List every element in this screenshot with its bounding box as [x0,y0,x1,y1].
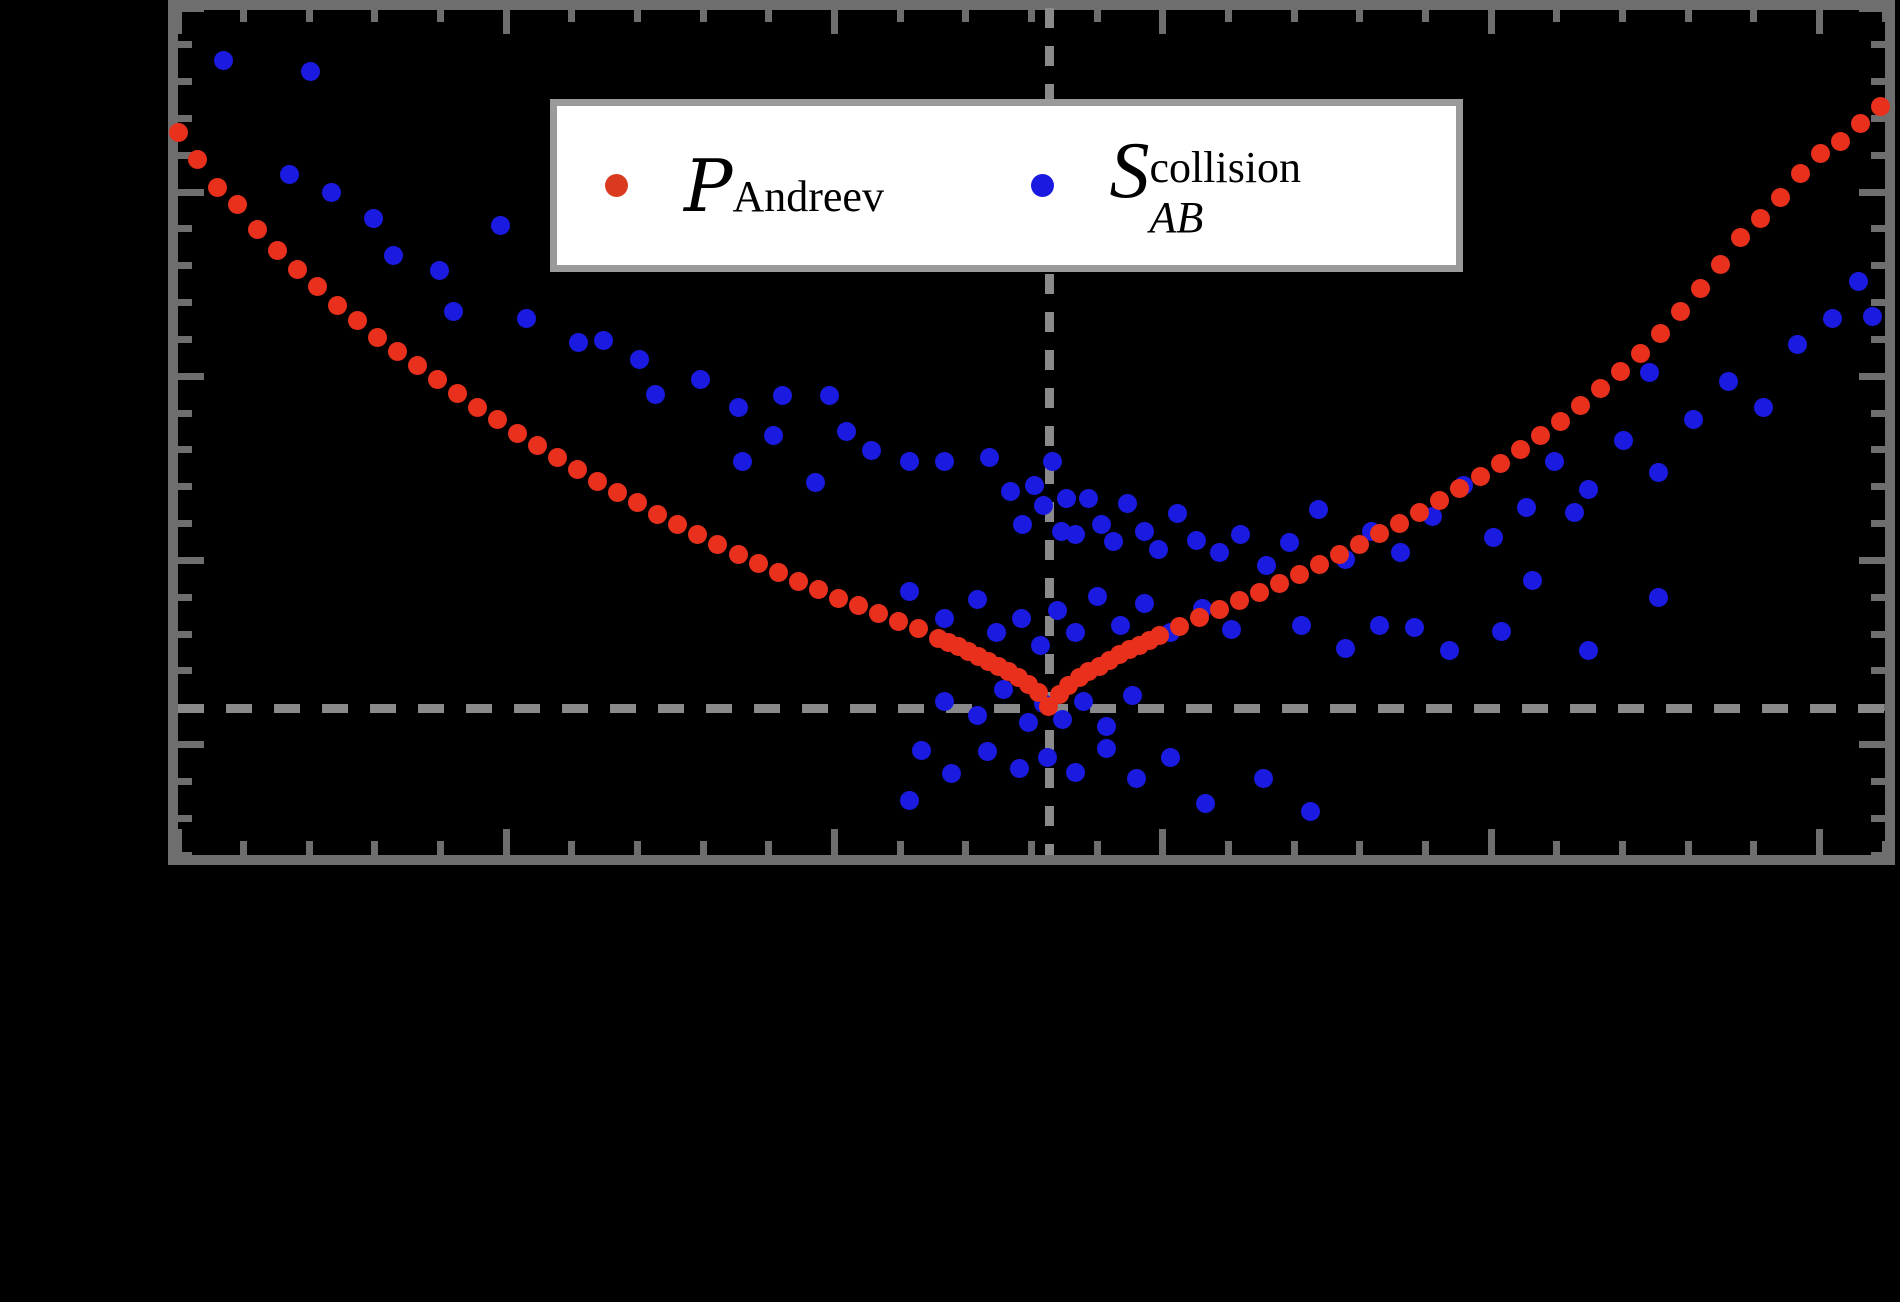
legend-sub-ab: AB [1150,196,1204,240]
data-point [491,216,510,235]
data-point [978,742,997,761]
x-tick-bottom-minor [1750,841,1757,855]
x-tick-bottom-minor [1356,841,1363,855]
x-tick-bottom-major [1159,829,1166,855]
data-point [1301,802,1320,821]
data-point [608,483,627,502]
data-point [1370,616,1389,635]
x-tick-bottom-minor [437,841,444,855]
data-point [1010,759,1029,778]
data-point [1012,609,1031,628]
y-tick-right-minor [1871,152,1885,159]
data-point [1571,396,1590,415]
data-point [1088,587,1107,606]
x-tick-bottom-minor [1291,841,1298,855]
y-tick-right-major [1859,189,1885,196]
data-point [408,356,427,375]
y-tick-right-minor [1871,115,1885,122]
x-tick-top-minor [437,8,444,22]
x-tick-top-minor [1619,8,1626,22]
data-point [1104,532,1123,551]
y-tick-right-minor [1871,483,1885,490]
data-point [568,460,587,479]
y-tick-right-minor [1871,667,1885,674]
data-point [1257,556,1276,575]
data-point [430,261,449,280]
data-point [368,328,387,347]
data-point [1013,515,1032,534]
y-tick-left-major [178,557,204,564]
data-point [1491,454,1510,473]
data-point [1651,324,1670,343]
y-tick-right-major [1859,373,1885,380]
x-tick-top-major [1159,8,1166,34]
data-point [444,302,463,321]
x-tick-top-minor [1291,8,1298,22]
data-point [1391,543,1410,562]
data-point [1170,617,1189,636]
x-tick-top-minor [1685,8,1692,22]
data-point [1791,164,1810,183]
data-point [1440,641,1459,660]
x-tick-bottom-minor [306,841,313,855]
y-tick-right-minor [1871,778,1885,785]
data-point [1640,363,1659,382]
data-point [1231,525,1250,544]
data-point [448,384,467,403]
x-tick-top-minor [962,8,969,22]
data-point [1161,748,1180,767]
data-point [1123,686,1142,705]
x-tick-top-minor [765,8,772,22]
x-tick-bottom-minor [1619,841,1626,855]
legend-sup-collision: collision [1150,146,1302,190]
data-point [1719,372,1738,391]
data-point [214,51,233,70]
x-tick-top-major [831,8,838,34]
data-point [837,422,856,441]
y-tick-right-minor [1871,815,1885,822]
data-point [1551,412,1570,431]
legend-label-p-andreev: PAndreev [684,150,884,222]
data-point [188,150,207,169]
y-tick-left-minor [178,78,192,85]
data-point [1649,588,1668,607]
data-point [1711,255,1730,274]
data-point [1066,623,1085,642]
y-tick-right-minor [1871,520,1885,527]
data-point [806,473,825,492]
data-point [900,791,919,810]
data-point [268,241,287,260]
x-tick-top-minor [1094,8,1101,22]
data-point [1871,97,1890,116]
y-tick-left-major [178,5,204,12]
data-point [1511,440,1530,459]
data-point [1863,307,1882,326]
data-point [729,398,748,417]
data-point [987,623,1006,642]
data-point [1591,379,1610,398]
data-point [630,350,649,369]
data-point [769,563,788,582]
x-tick-top-major [1488,8,1495,34]
data-point [1150,626,1169,645]
data-point [1038,748,1057,767]
x-tick-bottom-minor [700,841,707,855]
y-tick-right-minor [1871,299,1885,306]
data-point [388,342,407,361]
data-point [1517,498,1536,517]
data-point [1579,641,1598,660]
data-point [900,582,919,601]
data-point [1292,616,1311,635]
y-tick-right-minor [1871,594,1885,601]
x-tick-top-minor [371,8,378,22]
data-point [1230,591,1249,610]
data-point [1471,467,1490,486]
x-tick-bottom-minor [371,841,378,855]
data-point [628,493,647,512]
x-tick-bottom-minor [1685,841,1692,855]
data-point [588,472,607,491]
y-tick-left-minor [178,594,192,601]
y-tick-right-minor [1871,410,1885,417]
y-tick-right-minor [1871,262,1885,269]
legend-entry-s-ab-collision: ScollisionAB [1031,131,1457,239]
data-point [1097,717,1116,736]
legend-entry-p-andreev: PAndreev [557,150,1031,222]
data-point [1270,574,1289,593]
data-point [749,554,768,573]
y-tick-left-minor [178,667,192,674]
data-point [900,452,919,471]
y-tick-left-minor [178,336,192,343]
x-tick-top-major [175,8,182,34]
data-point [980,448,999,467]
x-tick-top-minor [240,8,247,22]
data-point [1614,431,1633,450]
y-tick-left-minor [178,115,192,122]
data-point [1430,491,1449,510]
x-tick-top-minor [1356,8,1363,22]
data-point [691,370,710,389]
y-tick-left-minor [178,631,192,638]
data-point [280,165,299,184]
y-tick-right-major [1859,741,1885,748]
horizontal-reference-line [178,704,1885,713]
x-tick-bottom-minor [568,841,575,855]
data-point [1390,514,1409,533]
y-tick-left-minor [178,778,192,785]
data-point [1025,476,1044,495]
x-tick-top-minor [1422,8,1429,22]
data-point [1450,479,1469,498]
data-point [1649,463,1668,482]
x-tick-bottom-minor [1225,841,1232,855]
data-point [1280,533,1299,552]
data-point [288,260,307,279]
axis-spine-bottom [168,855,1895,865]
data-point [1168,504,1187,523]
y-tick-left-minor [178,815,192,822]
data-point [912,741,931,760]
data-point [1079,489,1098,508]
data-point [1190,608,1209,627]
data-point [517,309,536,328]
data-point [646,385,665,404]
data-point [1788,335,1807,354]
y-tick-right-minor [1871,78,1885,85]
data-point [1210,543,1229,562]
data-point [708,535,727,554]
data-point [729,545,748,564]
data-point [548,448,567,467]
data-point [1370,524,1389,543]
data-point [942,764,961,783]
y-tick-left-minor [178,225,192,232]
data-point [384,246,403,265]
y-tick-left-minor [178,520,192,527]
data-point [1731,228,1750,247]
data-point [688,525,707,544]
y-tick-left-minor [178,446,192,453]
data-point [1001,482,1020,501]
x-tick-bottom-minor [1553,841,1560,855]
data-point [1523,571,1542,590]
x-tick-bottom-minor [1094,841,1101,855]
data-point [468,398,487,417]
data-point [968,706,987,725]
x-tick-bottom-major [1816,829,1823,855]
y-tick-left-minor [178,299,192,306]
axis-spine-right [1885,0,1895,863]
data-point [1118,494,1137,513]
x-tick-bottom-minor [1422,841,1429,855]
data-point [1831,132,1850,151]
legend-marker-blue-dot [1031,174,1054,197]
x-tick-top-minor [700,8,707,22]
y-tick-right-minor [1871,41,1885,48]
data-point [1187,531,1206,550]
y-tick-right-minor [1871,631,1885,638]
data-point [1092,515,1111,534]
y-tick-right-major [1859,5,1885,12]
legend-base-s: S [1110,127,1150,215]
data-point [1048,601,1067,620]
data-point [935,452,954,471]
data-point [862,441,881,460]
data-point [1751,209,1770,228]
y-tick-right-minor [1871,225,1885,232]
y-tick-left-major [178,189,204,196]
data-point [364,209,383,228]
x-tick-bottom-minor [765,841,772,855]
x-tick-top-minor [1553,8,1560,22]
x-tick-top-minor [568,8,575,22]
data-point [1066,525,1085,544]
data-point [1405,618,1424,637]
data-point [1135,522,1154,541]
data-point [301,62,320,81]
data-point [1565,503,1584,522]
x-tick-top-minor [1750,8,1757,22]
data-point [1034,496,1053,515]
data-point [1611,362,1630,381]
data-point [1222,620,1241,639]
data-point [773,386,792,405]
data-point [488,410,507,429]
x-tick-top-minor [1225,8,1232,22]
data-point [1250,583,1269,602]
data-point [1310,555,1329,574]
data-point [968,590,987,609]
data-point [208,178,227,197]
data-point [820,386,839,405]
x-tick-top-major [1816,8,1823,34]
data-point [849,596,868,615]
x-tick-top-minor [897,8,904,22]
data-point [733,452,752,471]
x-tick-top-minor [634,8,641,22]
data-point [1149,540,1168,559]
y-tick-right-minor [1871,446,1885,453]
data-point [1053,710,1072,729]
data-point [1410,503,1429,522]
data-point [228,195,247,214]
x-tick-bottom-minor [962,841,969,855]
data-point [809,580,828,599]
data-point [1043,452,1062,471]
data-point [1290,565,1309,584]
x-tick-bottom-minor [897,841,904,855]
data-point [1019,713,1038,732]
data-point [1691,279,1710,298]
data-point [1127,769,1146,788]
legend-sub-andreev: Andreev [732,172,884,221]
figure-root: PAndreev ScollisionAB [0,0,1900,1302]
data-point [594,331,613,350]
y-tick-left-major [178,373,204,380]
x-tick-bottom-major [503,829,510,855]
data-point [428,370,447,389]
data-point [869,604,888,623]
data-point [1097,739,1116,758]
data-point [1631,344,1650,363]
x-tick-bottom-minor [1028,841,1035,855]
data-point [909,619,928,638]
data-point [829,589,848,608]
data-point [308,277,327,296]
data-point [1254,769,1273,788]
data-point [1031,636,1050,655]
data-point [1350,535,1369,554]
data-point [328,296,347,315]
data-point [1754,398,1773,417]
x-tick-bottom-major [1488,829,1495,855]
x-tick-bottom-major [831,829,838,855]
y-tick-left-minor [178,41,192,48]
y-tick-left-minor [178,262,192,269]
y-tick-left-minor [178,852,192,859]
data-point [1671,302,1690,321]
y-tick-right-minor [1871,336,1885,343]
plot-area: PAndreev ScollisionAB [178,8,1885,855]
data-point [1531,426,1550,445]
data-point [1811,144,1830,163]
legend-label-s-ab-collision: ScollisionAB [1110,131,1350,239]
data-point [1492,622,1511,641]
data-point [1309,500,1328,519]
data-point [528,436,547,455]
x-tick-bottom-minor [634,841,641,855]
y-tick-right-minor [1871,852,1885,859]
y-tick-right-major [1859,557,1885,564]
data-point [348,311,367,330]
data-point [508,424,527,443]
data-point [1111,616,1130,635]
x-tick-top-minor [306,8,313,22]
data-point [789,572,808,591]
data-point [668,515,687,534]
y-tick-left-minor [178,410,192,417]
data-point [1066,763,1085,782]
data-point [1057,489,1076,508]
data-point [1579,480,1598,499]
y-tick-left-minor [178,483,192,490]
data-point [322,183,341,202]
legend-box: PAndreev ScollisionAB [550,99,1463,272]
data-point [1849,272,1868,291]
data-point [1684,410,1703,429]
legend-marker-red-dot [605,174,628,197]
data-point [248,220,267,239]
x-tick-top-minor [1028,8,1035,22]
y-tick-left-major [178,741,204,748]
data-point [1823,309,1842,328]
data-point [1336,639,1355,658]
data-point [764,426,783,445]
data-point [1851,114,1870,133]
x-tick-bottom-minor [240,841,247,855]
data-point [648,505,667,524]
data-point [1196,794,1215,813]
x-tick-top-major [503,8,510,34]
data-point [1074,692,1093,711]
data-point [935,692,954,711]
data-point [1135,594,1154,613]
data-point [1484,528,1503,547]
data-point [1545,452,1564,471]
data-point [935,609,954,628]
data-point [1771,188,1790,207]
data-point [169,123,188,142]
data-point [1210,600,1229,619]
data-point [889,612,908,631]
data-point [569,333,588,352]
